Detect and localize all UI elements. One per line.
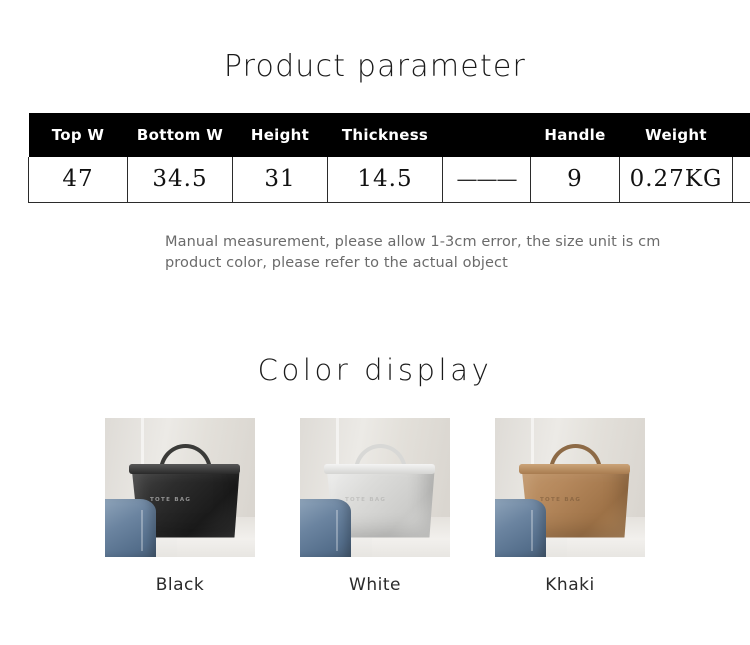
bag-logo-text: TOTE BAG (150, 497, 191, 503)
page-title-color-display: Color display (0, 351, 750, 389)
spec-header-blank (443, 113, 531, 157)
spec-value-thickness: 14.5 (328, 157, 443, 202)
denim-jacket-prop (300, 499, 351, 557)
spec-header-material: Material (733, 113, 750, 157)
color-label-khaki: Khaki (495, 575, 645, 595)
product-photo-khaki[interactable]: TOTE BAG (495, 418, 645, 557)
tote-bag-rim (519, 464, 630, 474)
page-title-product-parameter: Product parameter (0, 48, 750, 86)
product-photo-black[interactable]: TOTE BAG (105, 418, 255, 557)
spec-header-weight: Weight (620, 113, 733, 157)
bag-logo-text: TOTE BAG (345, 497, 386, 503)
spec-header-handle: Handle (531, 113, 620, 157)
bag-logo-text: TOTE BAG (540, 497, 581, 503)
denim-jacket-prop (495, 499, 546, 557)
spec-header-bottom-w: Bottom W (128, 113, 233, 157)
color-swatch-white[interactable]: TOTE BAG White (300, 418, 450, 595)
spec-value-material: kraft paper (733, 157, 750, 202)
spec-value-blank: ——— (443, 157, 531, 202)
tote-bag-rim (129, 464, 240, 474)
spec-value-weight: 0.27KG (620, 157, 733, 202)
measurement-note-line-2: product color, please refer to the actua… (165, 253, 740, 274)
spec-header-height: Height (233, 113, 328, 157)
color-label-black: Black (105, 575, 255, 595)
denim-jacket-prop (105, 499, 156, 557)
spec-header-top-w: Top W (29, 113, 128, 157)
product-spec-table: Top W Bottom W Height Thickness Handle W… (28, 113, 750, 203)
spec-value-handle: 9 (531, 157, 620, 202)
color-swatch-khaki[interactable]: TOTE BAG Khaki (495, 418, 645, 595)
spec-value-height: 31 (233, 157, 328, 202)
spec-table-header-row: Top W Bottom W Height Thickness Handle W… (29, 113, 750, 157)
measurement-note: Manual measurement, please allow 1-3cm e… (165, 232, 740, 274)
color-gallery: TOTE BAG Black TOTE BAG White TOTE BAG (0, 418, 750, 595)
product-photo-white[interactable]: TOTE BAG (300, 418, 450, 557)
spec-table-value-row: 47 34.5 31 14.5 ——— 9 0.27KG kraft paper (29, 157, 750, 202)
spec-value-bottom-w: 34.5 (128, 157, 233, 202)
color-swatch-black[interactable]: TOTE BAG Black (105, 418, 255, 595)
color-label-white: White (300, 575, 450, 595)
measurement-note-line-1: Manual measurement, please allow 1-3cm e… (165, 232, 740, 253)
spec-value-top-w: 47 (29, 157, 128, 202)
spec-header-thickness: Thickness (328, 113, 443, 157)
tote-bag-rim (324, 464, 435, 474)
